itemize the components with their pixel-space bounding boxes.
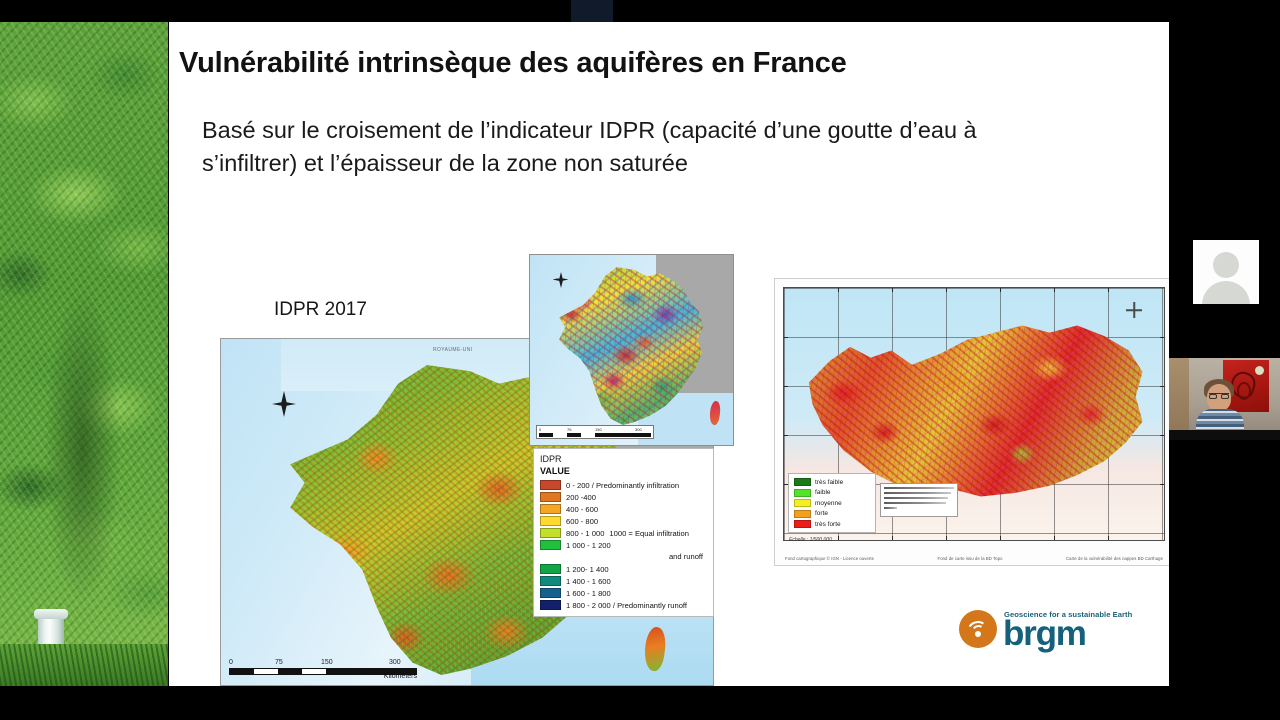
- poster-swirl-inner: [1237, 382, 1251, 400]
- page-title: Vulnérabilité intrinsèque des aquifères …: [179, 47, 847, 80]
- map-credit: Fond de carte issu de la BD Topo: [938, 556, 1003, 561]
- idpr-map-caption: IDPR 2017: [274, 299, 367, 321]
- legend-continuation-note: and runoff: [540, 551, 707, 563]
- glasses-lens-right: [1221, 394, 1229, 399]
- map-annotation-note: [880, 483, 958, 517]
- inset-scalebar-tick: 75: [567, 427, 571, 432]
- piezometer-cap: [34, 609, 68, 619]
- vulnerability-regional-map[interactable]: très faible faible moyenne forte très fo…: [774, 278, 1174, 566]
- shrub-shadow: [44, 288, 121, 607]
- legend-swatch: [540, 540, 561, 550]
- legend-label: 1 000 - 1 200: [566, 541, 611, 550]
- grass-foreground: [0, 644, 168, 686]
- legend-label: 200 -400: [566, 493, 596, 502]
- scalebar-tick: 0: [229, 659, 233, 666]
- slide-body-text: Basé sur le croisement de l’indicateur I…: [202, 114, 1032, 181]
- legend-label: 0 - 200 / Predominantly infiltration: [566, 481, 679, 490]
- note-line: [884, 492, 951, 494]
- avatar-body-icon: [1202, 281, 1250, 304]
- frame-ticks-bottom: [784, 536, 1164, 541]
- legend-row: 1 800 - 2 000 / Predominantly runoff: [540, 599, 707, 611]
- vuln-swatch: [794, 520, 811, 528]
- inset-scalebar-segment: [581, 433, 595, 437]
- compass-rose-icon: [271, 391, 297, 417]
- vuln-legend-row: très forte: [794, 520, 871, 528]
- idpr-legend-title: IDPR: [540, 454, 707, 464]
- note-line: [884, 502, 946, 504]
- legend-row: 600 - 800: [540, 515, 707, 527]
- video-rail: [1169, 0, 1280, 720]
- avatar-head-icon: [1213, 252, 1239, 278]
- map-credits: Fond cartographique © IGN - Licence ouve…: [785, 556, 1163, 561]
- inset-compass-rose-icon: [552, 271, 569, 288]
- legend-row: 200 -400: [540, 491, 707, 503]
- map-credit: Carte de la vulnérabilité des nappes BD …: [1066, 556, 1163, 561]
- screen-root: Vulnérabilité intrinsèque des aquifères …: [0, 0, 1280, 720]
- legend-label: 400 - 600: [566, 505, 598, 514]
- brgm-wave-icon: [959, 610, 997, 648]
- tile-bottom-shade: [1169, 430, 1280, 440]
- participant-webcam-tile[interactable]: [1169, 358, 1280, 440]
- scalebar-segment: [254, 669, 278, 674]
- legend-row: 400 - 600: [540, 503, 707, 515]
- inset-scalebar-bar: [539, 433, 651, 437]
- inset-compass-bar: [553, 278, 569, 281]
- frame-ticks-right: [1160, 288, 1165, 540]
- room-wall: [1169, 358, 1189, 440]
- vuln-label: forte: [815, 510, 828, 517]
- inset-scalebar-tick: 300: [635, 427, 642, 432]
- legend-swatch: [540, 576, 561, 586]
- brgm-wordmark: brgm: [1003, 616, 1086, 651]
- legend-swatch: [540, 492, 561, 502]
- inset-scalebar: 0 75 150 300: [536, 425, 654, 439]
- idpr-legend-panel: IDPR VALUE 0 - 200 / Predominantly infil…: [533, 448, 714, 617]
- vuln-label: moyenne: [815, 500, 842, 507]
- idpr-legend-subtitle: VALUE: [540, 466, 707, 476]
- compass-bar: [272, 402, 296, 406]
- vuln-swatch: [794, 478, 811, 486]
- vulnerability-legend-panel: très faible faible moyenne forte très fo…: [788, 473, 876, 533]
- legend-label: 600 - 800: [566, 517, 598, 526]
- scalebar-tick: 150: [321, 659, 333, 666]
- brgm-dot: [975, 631, 981, 637]
- frame-ticks-top: [784, 287, 1164, 292]
- legend-row: 1 200- 1 400: [540, 563, 707, 575]
- country-label: ROYAUME-UNI: [433, 347, 473, 353]
- scalebar-segment: [302, 669, 326, 674]
- vuln-label: très faible: [815, 479, 843, 486]
- legend-swatch: [540, 588, 561, 598]
- legend-equal-note: 1000 = Equal infiltration: [609, 529, 689, 538]
- legend-row: 1 000 - 1 200: [540, 539, 707, 551]
- vuln-label: faible: [815, 489, 831, 496]
- vuln-swatch: [794, 489, 811, 497]
- legend-swatch: [540, 504, 561, 514]
- inset-scalebar-tick: 150: [595, 427, 602, 432]
- vegetation-photo: [0, 22, 168, 686]
- inset-scalebar-tick: 0: [539, 427, 541, 432]
- legend-label: 1 400 - 1 600: [566, 577, 611, 586]
- glasses-lens-left: [1209, 394, 1217, 399]
- inset-scalebar-segment: [553, 433, 567, 437]
- legend-row: 1 400 - 1 600: [540, 575, 707, 587]
- vuln-swatch: [794, 499, 811, 507]
- participant-avatar-tile[interactable]: [1193, 240, 1259, 304]
- vuln-legend-row: moyenne: [794, 499, 871, 507]
- legend-label: 1 800 - 2 000 / Predominantly runoff: [566, 601, 687, 610]
- legend-swatch: [540, 528, 561, 538]
- note-line: [884, 497, 948, 499]
- vuln-label: très forte: [815, 521, 841, 528]
- geology-inset-map[interactable]: 0 75 150 300: [529, 254, 734, 446]
- scalebar-tick: 75: [275, 659, 283, 666]
- scalebar-unit: Kilometers: [384, 673, 417, 680]
- note-line: [884, 487, 954, 489]
- vuln-legend-row: très faible: [794, 478, 871, 486]
- legend-label: 800 - 1 000: [566, 529, 604, 538]
- vuln-legend-row: faible: [794, 489, 871, 497]
- vuln-legend-row: forte: [794, 510, 871, 518]
- legend-label: 1 600 - 1 800: [566, 589, 611, 598]
- crosshair-vertical: [1133, 302, 1135, 318]
- legend-swatch: [540, 516, 561, 526]
- scalebar-tick: 300: [389, 659, 401, 666]
- map-scale-note: Echelle : 1/500 000: [789, 537, 832, 543]
- poster-badge: [1255, 366, 1264, 375]
- legend-swatch: [540, 480, 561, 490]
- speaker-glasses: [1209, 393, 1229, 398]
- brgm-logo: Geoscience for a sustainable Earth brgm: [959, 604, 1084, 662]
- legend-row: 0 - 200 / Predominantly infiltration: [540, 479, 707, 491]
- north-crosshair-icon: [1126, 302, 1142, 318]
- map-scalebar: 0 75 150 300 Kilometers: [229, 659, 417, 675]
- legend-label: 1 200- 1 400: [566, 565, 609, 574]
- legend-swatch: [540, 600, 561, 610]
- legend-row: 800 - 1 000 1000 = Equal infiltration: [540, 527, 707, 539]
- scalebar-ticks: 0 75 150 300: [229, 659, 417, 668]
- note-line: [884, 507, 897, 509]
- legend-swatch: [540, 564, 561, 574]
- map-credit: Fond cartographique © IGN - Licence ouve…: [785, 556, 874, 561]
- presentation-slide: Vulnérabilité intrinsèque des aquifères …: [169, 22, 1169, 686]
- legend-row: 1 600 - 1 800: [540, 587, 707, 599]
- vuln-swatch: [794, 510, 811, 518]
